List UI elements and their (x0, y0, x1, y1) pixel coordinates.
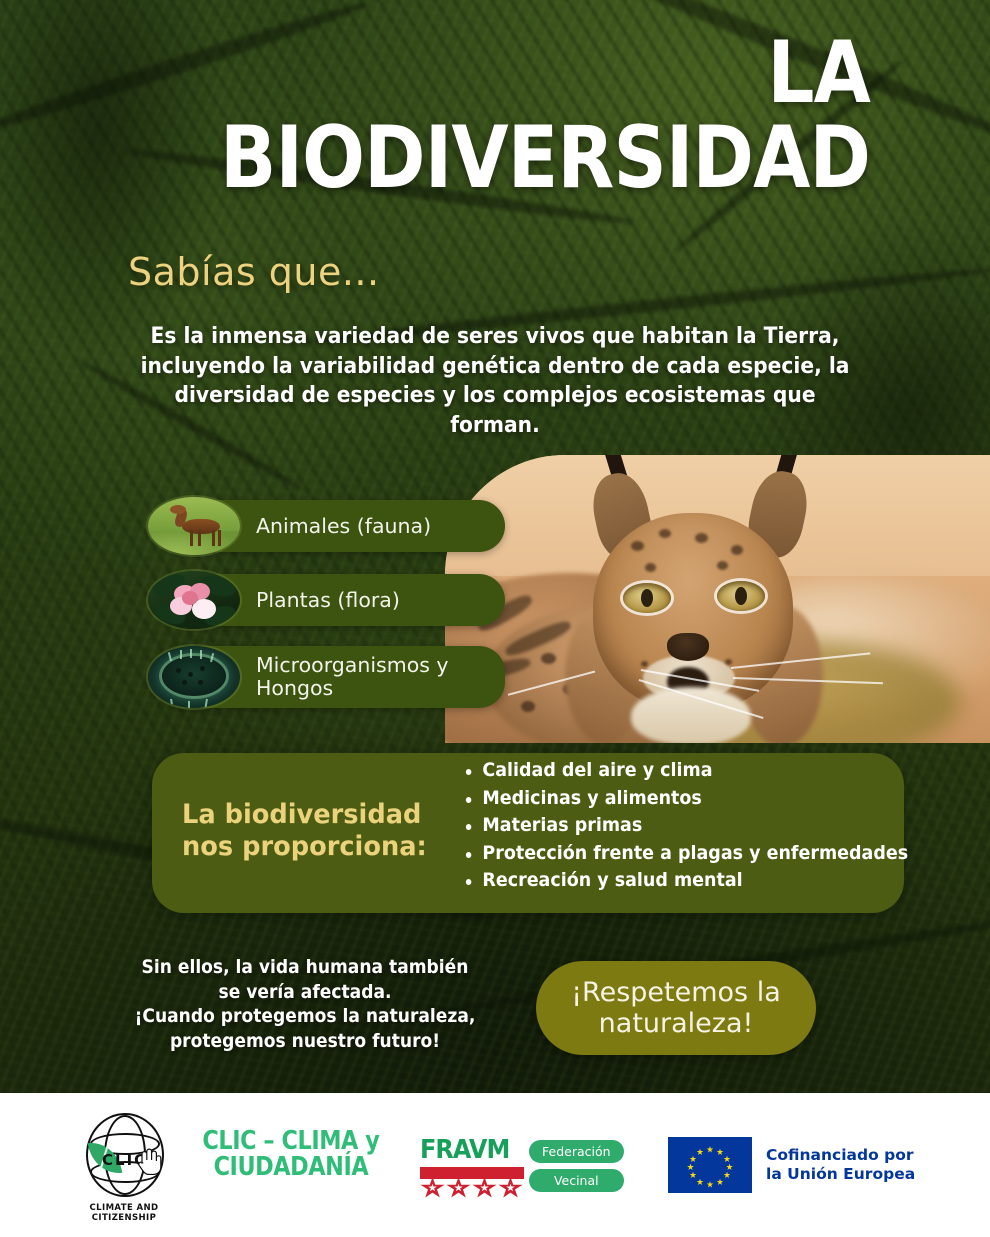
title-line-1: LA (122, 34, 870, 113)
flower-photo-icon (148, 571, 240, 629)
page-title: LA BIODIVERSIDAD (0, 34, 870, 198)
fravm-pill-federacion: Federación (529, 1140, 624, 1163)
benefit-item: Recreación y salud mental (464, 871, 860, 890)
intro-paragraph: Es la inmensa variedad de seres vivos qu… (135, 322, 855, 441)
eu-logo: Cofinanciado por la Unión Europea (668, 1137, 915, 1193)
cursor-hand-icon (136, 1147, 162, 1175)
clic-name: CLIC – CLIMA y CIUDADANÍA (202, 1128, 379, 1180)
clic-tagline: CLIMATE AND CITIZENSHIP (66, 1203, 182, 1223)
fravm-stars-icon (420, 1177, 524, 1199)
lynx-eye-left (623, 583, 671, 613)
category-pill-plantas[interactable]: Plantas (flora) (160, 574, 505, 626)
eu-funding-text: Cofinanciado por la Unión Europea (766, 1146, 915, 1185)
cta-label: ¡Respetemos la naturaleza! (571, 977, 781, 1040)
title-line-2: BIODIVERSIDAD (122, 119, 870, 198)
fravm-wordmark: FRAVM (420, 1135, 509, 1165)
lynx-illustration (445, 455, 990, 743)
fravm-pill-vecinal: Vecinal (529, 1169, 624, 1192)
poster-root: LA BIODIVERSIDAD Sabías que... Es la inm… (0, 0, 990, 1237)
benefit-item: Medicinas y alimentos (464, 789, 860, 808)
lynx-eye-right (717, 581, 765, 611)
benefit-item: Calidad del aire y clima (464, 761, 860, 780)
benefit-item: Materias primas (464, 816, 860, 835)
category-pill-microorganismos[interactable]: Microorganismos y Hongos (160, 646, 505, 708)
eu-flag-icon (668, 1137, 752, 1193)
benefits-heading: La biodiversidad nos proporciona: (182, 799, 434, 864)
lynx-photo (445, 455, 990, 743)
benefit-item: Protección frente a plagas y enfermedade… (464, 844, 860, 863)
benefits-box: La biodiversidad nos proporciona: Calida… (152, 753, 904, 913)
cta-button[interactable]: ¡Respetemos la naturaleza! (536, 961, 816, 1055)
kicker-text: Sabías que... (128, 250, 380, 294)
microorganism-photo-icon (148, 646, 240, 708)
closing-text: Sin ellos, la vida humana también se ver… (130, 955, 481, 1054)
benefits-list: Calidad del aire y clima Medicinas y ali… (464, 761, 894, 899)
category-pill-animales[interactable]: Animales (fauna) (160, 500, 505, 552)
clic-logo: CLIC CLIMATE AND CITIZENSHIP CLIC – CLIM… (80, 1111, 394, 1197)
clic-globe-icon: CLIC CLIMATE AND CITIZENSHIP (80, 1111, 166, 1197)
footer-logos: CLIC CLIMATE AND CITIZENSHIP CLIC – CLIM… (0, 1093, 990, 1237)
deer-photo-icon (148, 497, 240, 555)
fravm-logo: FRAVM Federación Vecinal (420, 1135, 624, 1197)
